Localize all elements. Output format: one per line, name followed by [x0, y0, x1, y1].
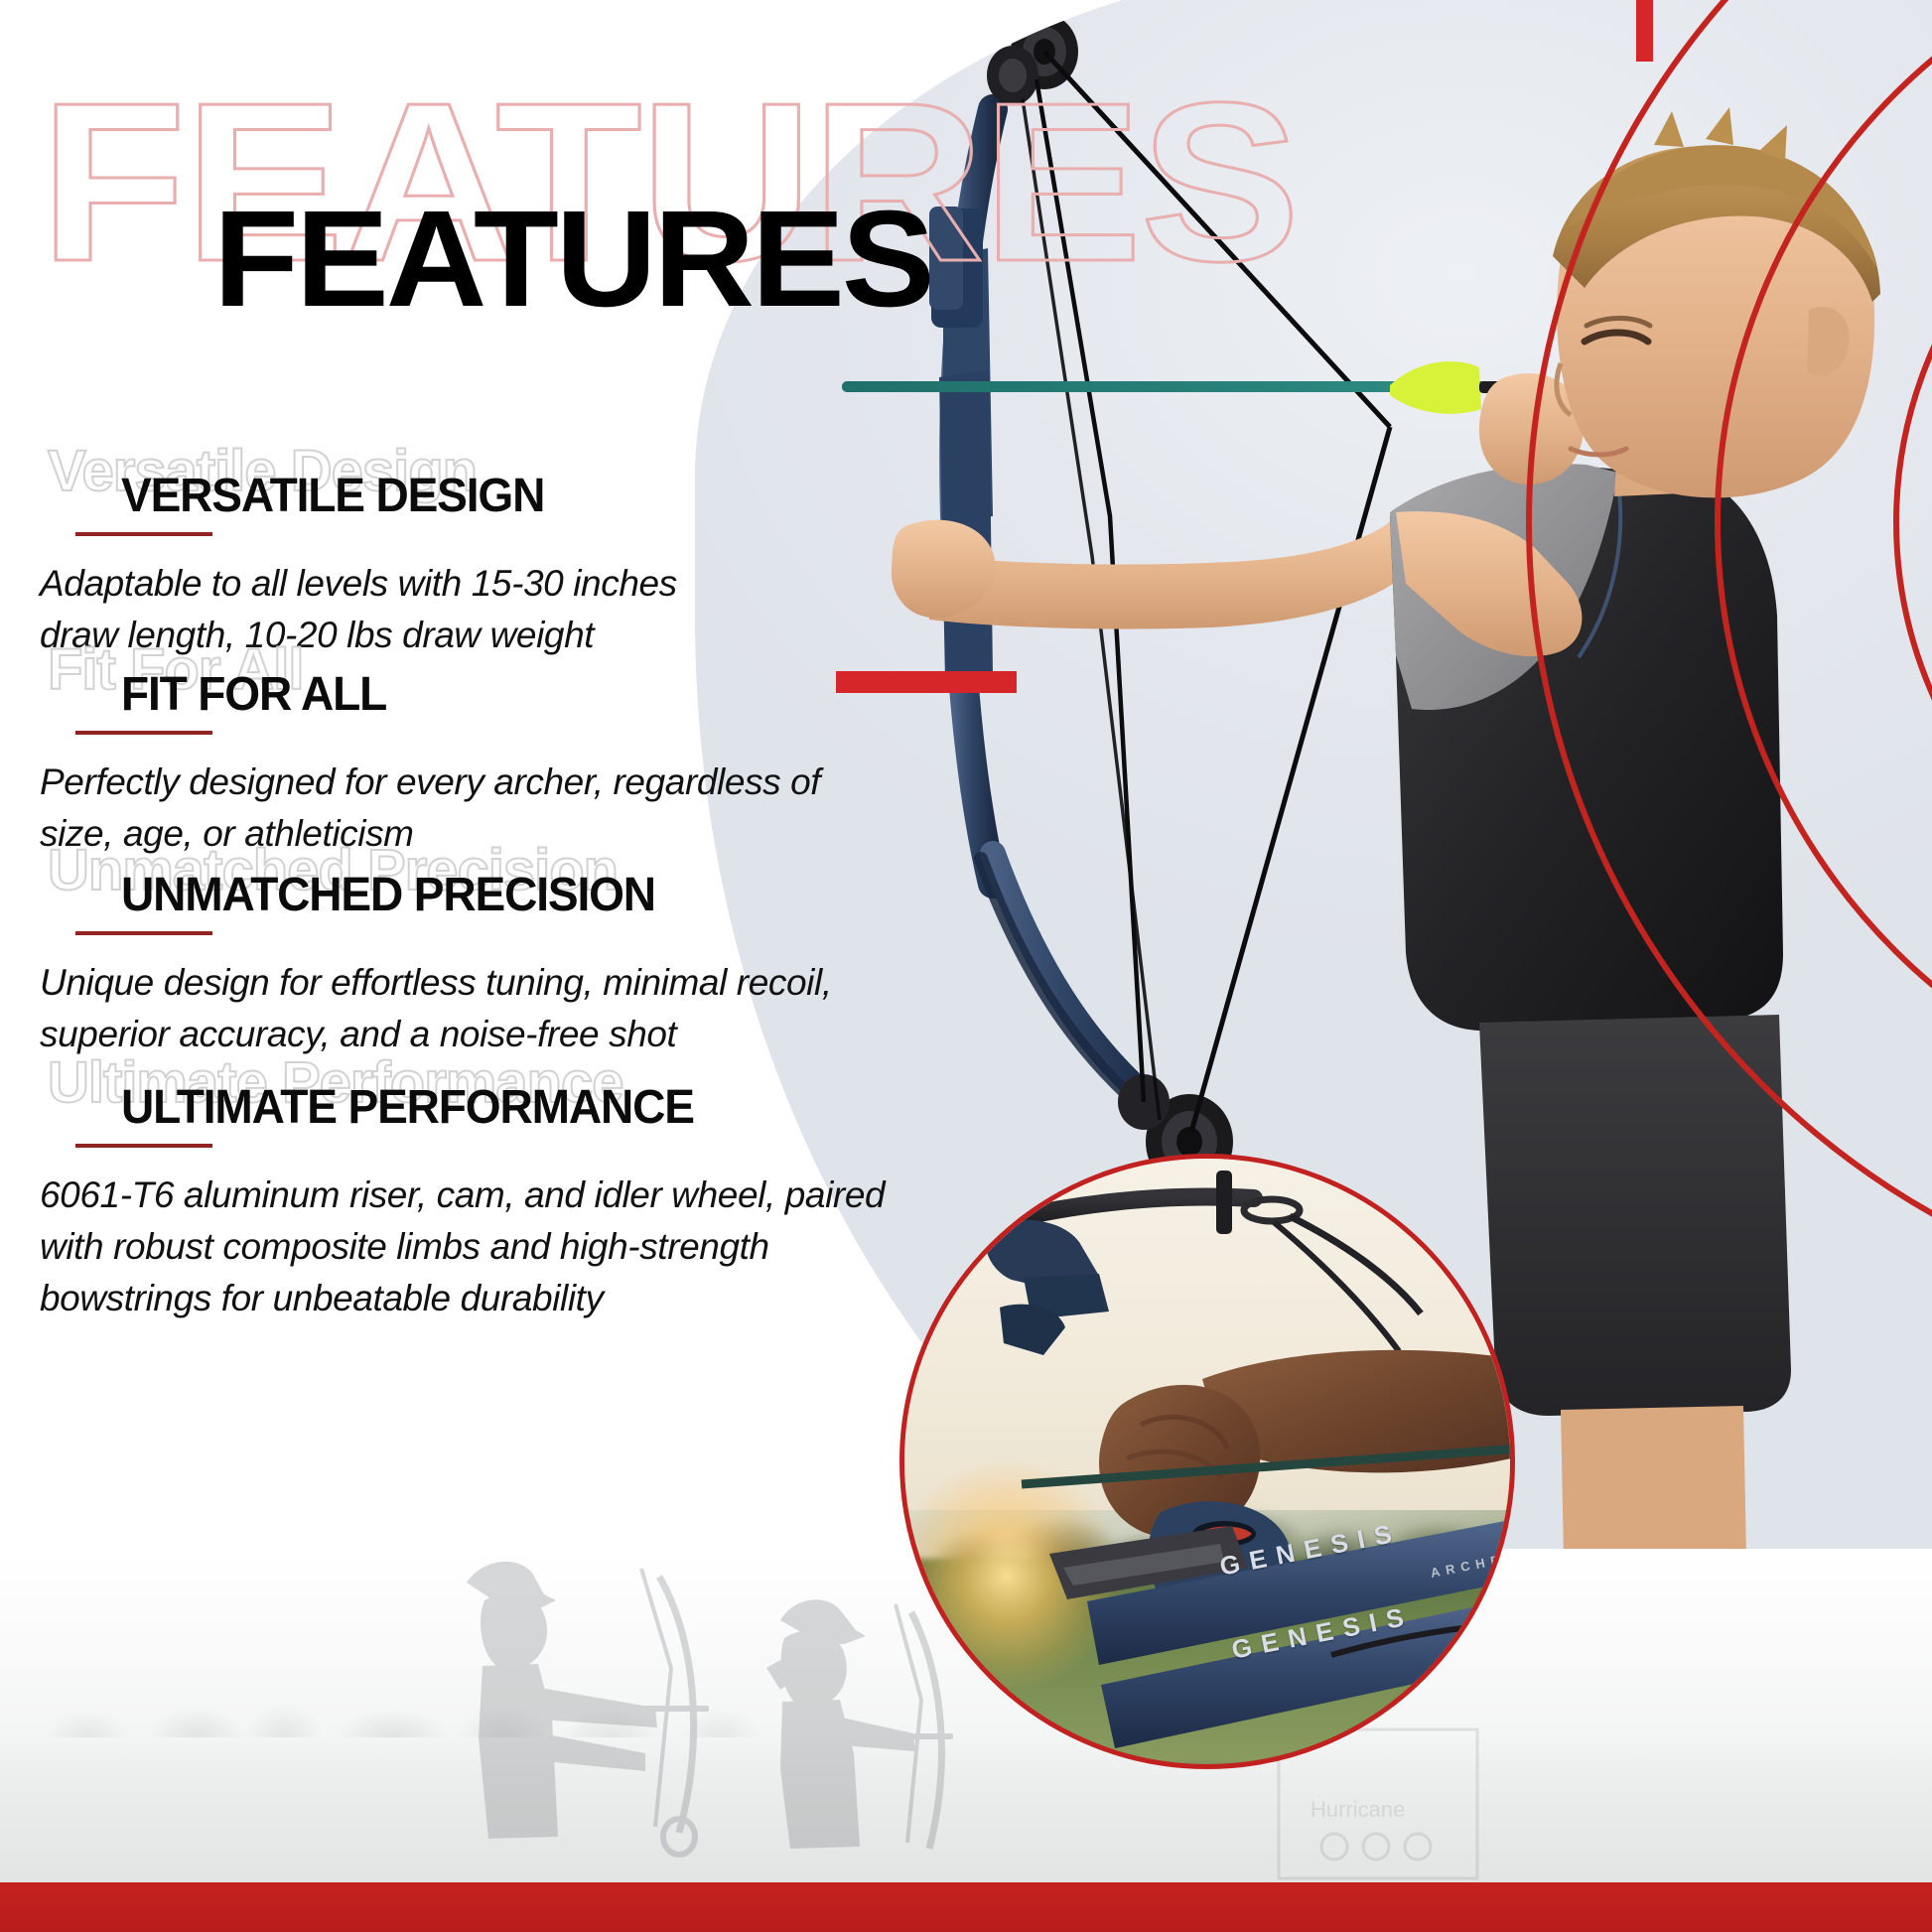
red-dash-accent	[836, 671, 1017, 693]
inset-bow-hand-illustration	[904, 1159, 1515, 1769]
feature-underline	[75, 532, 212, 536]
feature-underline	[75, 1144, 212, 1148]
feature-body: 6061-T6 aluminum riser, cam, and idler w…	[40, 1170, 913, 1323]
feature-title: UNMATCHED PRECISION	[121, 872, 655, 919]
red-tick-accent	[1636, 0, 1653, 62]
feature-title: ULTIMATE PERFORMANCE	[121, 1084, 694, 1132]
feature-title: VERSATILE DESIGN	[121, 473, 544, 520]
page-title: FEATURES FEATURES	[40, 69, 1211, 328]
feature-title: FIT FOR ALL	[121, 671, 386, 719]
feature-underline	[75, 731, 212, 735]
page-title-solid: FEATURES	[213, 191, 932, 328]
poster-canvas: FEATURES FEATURES Versatile Design VERSA…	[0, 0, 1932, 1932]
target-ring-2	[1896, 95, 1932, 949]
hurricane-target-label: Hurricane	[1311, 1797, 1405, 1822]
feature-body: Unique design for effortless tuning, min…	[40, 957, 834, 1060]
inset-detail-photo: GENESIS ARCHERY GENESIS ARCHERY	[899, 1154, 1515, 1769]
bottom-red-bar	[0, 1882, 1932, 1932]
feature-underline	[75, 931, 212, 935]
